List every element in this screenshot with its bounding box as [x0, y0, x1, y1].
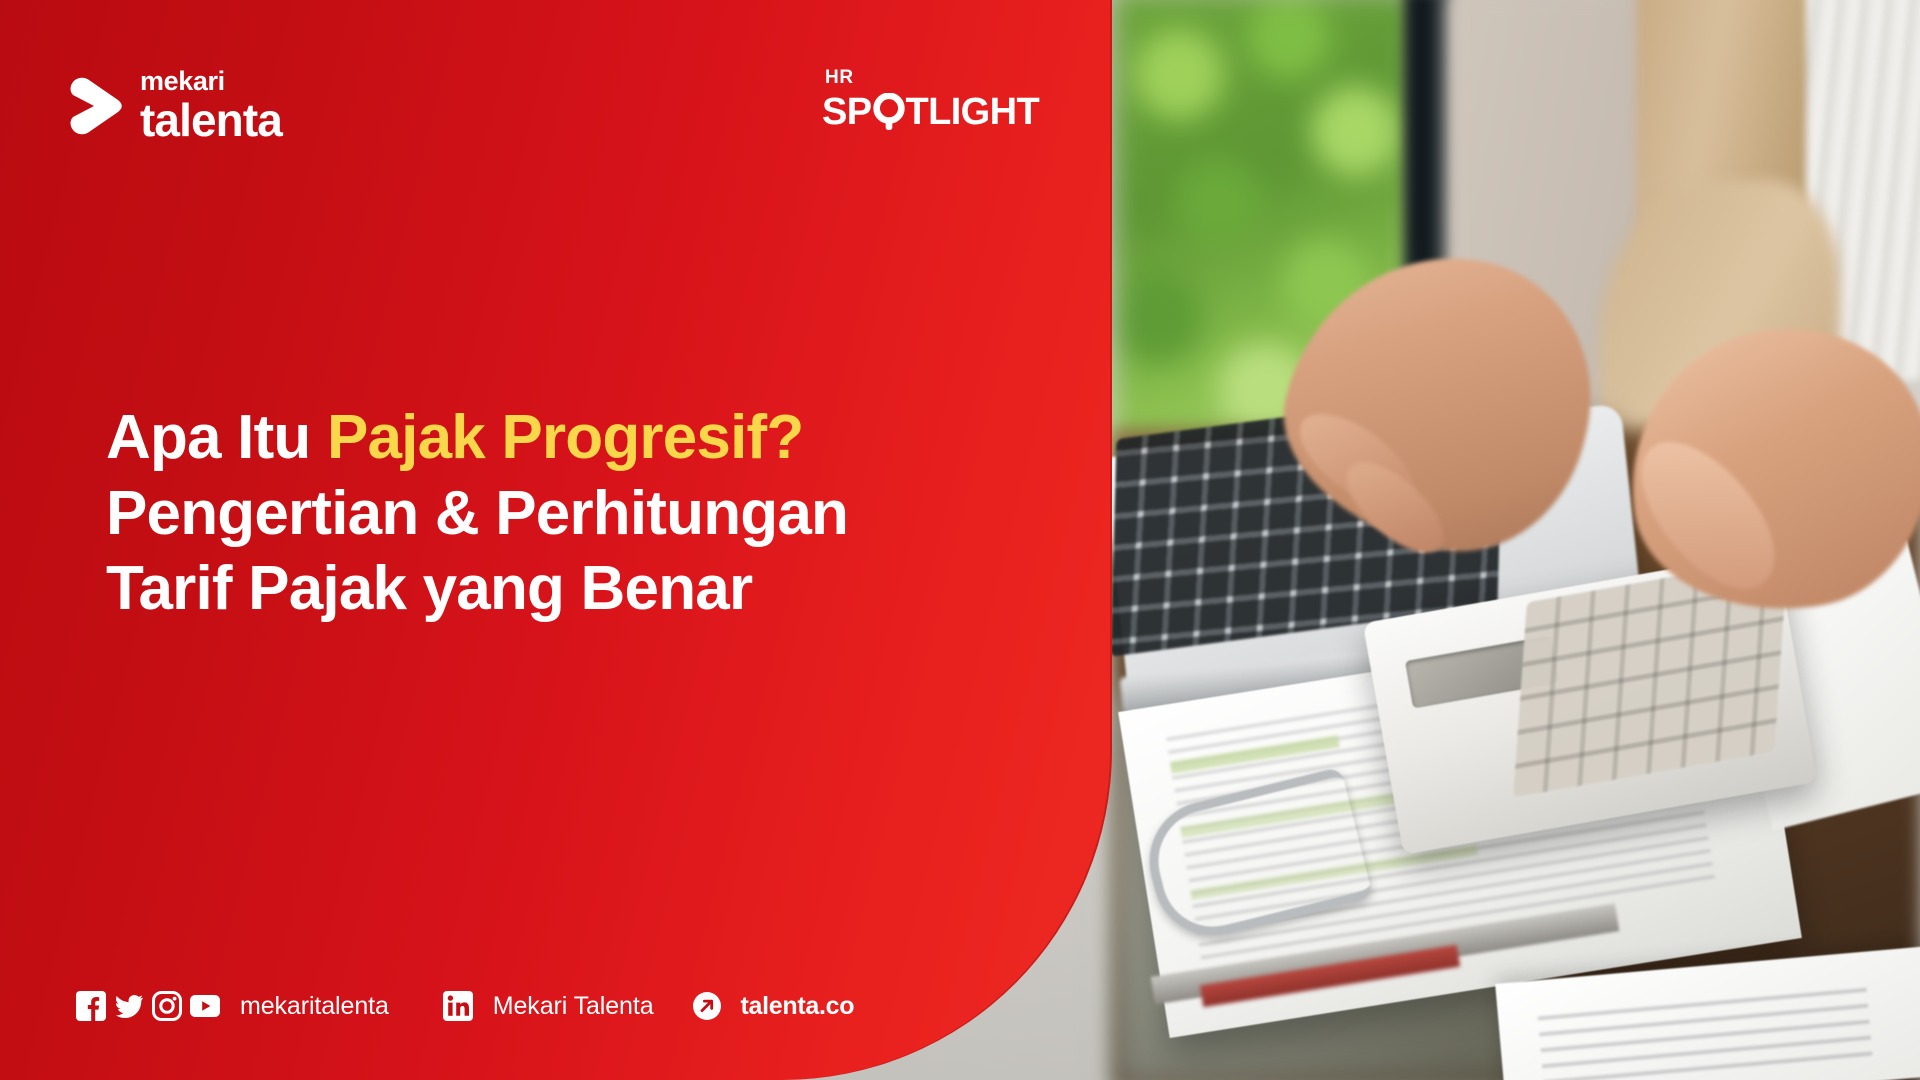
red-content-panel: mekari talenta HR SP TLIGHT Apa Itu Paja… [0, 0, 1112, 1080]
youtube-icon[interactable] [190, 991, 220, 1021]
banner-canvas: mekari talenta HR SP TLIGHT Apa Itu Paja… [0, 0, 1920, 1080]
social-handle-text: mekaritalenta [240, 992, 389, 1021]
page-title: Apa Itu Pajak Progresif? Pengertian & Pe… [106, 400, 986, 627]
mekari-chevron-logo-icon [68, 75, 124, 137]
headline-line-3: Tarif Pajak yang Benar [106, 551, 986, 627]
hr-spotlight-logo: HR SP TLIGHT [822, 68, 1039, 131]
headline-line-2: Pengertian & Perhitungan [106, 476, 986, 552]
headline-line1-tail: ? [766, 403, 803, 472]
spotlight-text-after: TLIGHT [906, 93, 1040, 131]
logo-mekari-text: mekari [140, 68, 282, 95]
headline-highlight: Pajak Progresif [327, 403, 766, 472]
linkedin-group: Mekari Talenta [443, 991, 654, 1021]
mekari-talenta-logo[interactable]: mekari talenta [68, 68, 282, 143]
spotlight-text-before: SP [822, 93, 872, 131]
facebook-icon[interactable] [76, 991, 106, 1021]
hr-spotlight-wordmark: SP TLIGHT [822, 93, 1039, 131]
twitter-icon[interactable] [114, 991, 144, 1021]
social-handle-group: mekaritalenta [76, 991, 389, 1021]
logo-talenta-text: talenta [140, 97, 282, 143]
linkedin-icon[interactable] [443, 991, 473, 1021]
headline-line-1: Apa Itu Pajak Progresif? [106, 400, 986, 476]
instagram-icon[interactable] [152, 991, 182, 1021]
linkedin-handle-text: Mekari Talenta [493, 992, 654, 1021]
hr-spotlight-kicker: HR [825, 68, 1039, 87]
footer-social-bar: mekaritalenta Mekari Talenta [76, 991, 854, 1021]
website-text: talenta.co [741, 992, 855, 1021]
arrow-up-right-circle-icon[interactable] [692, 991, 722, 1021]
spotlight-magnifier-o-icon [872, 93, 906, 131]
website-group[interactable]: talenta.co [692, 991, 855, 1021]
headline-line1-plain: Apa Itu [106, 403, 327, 472]
